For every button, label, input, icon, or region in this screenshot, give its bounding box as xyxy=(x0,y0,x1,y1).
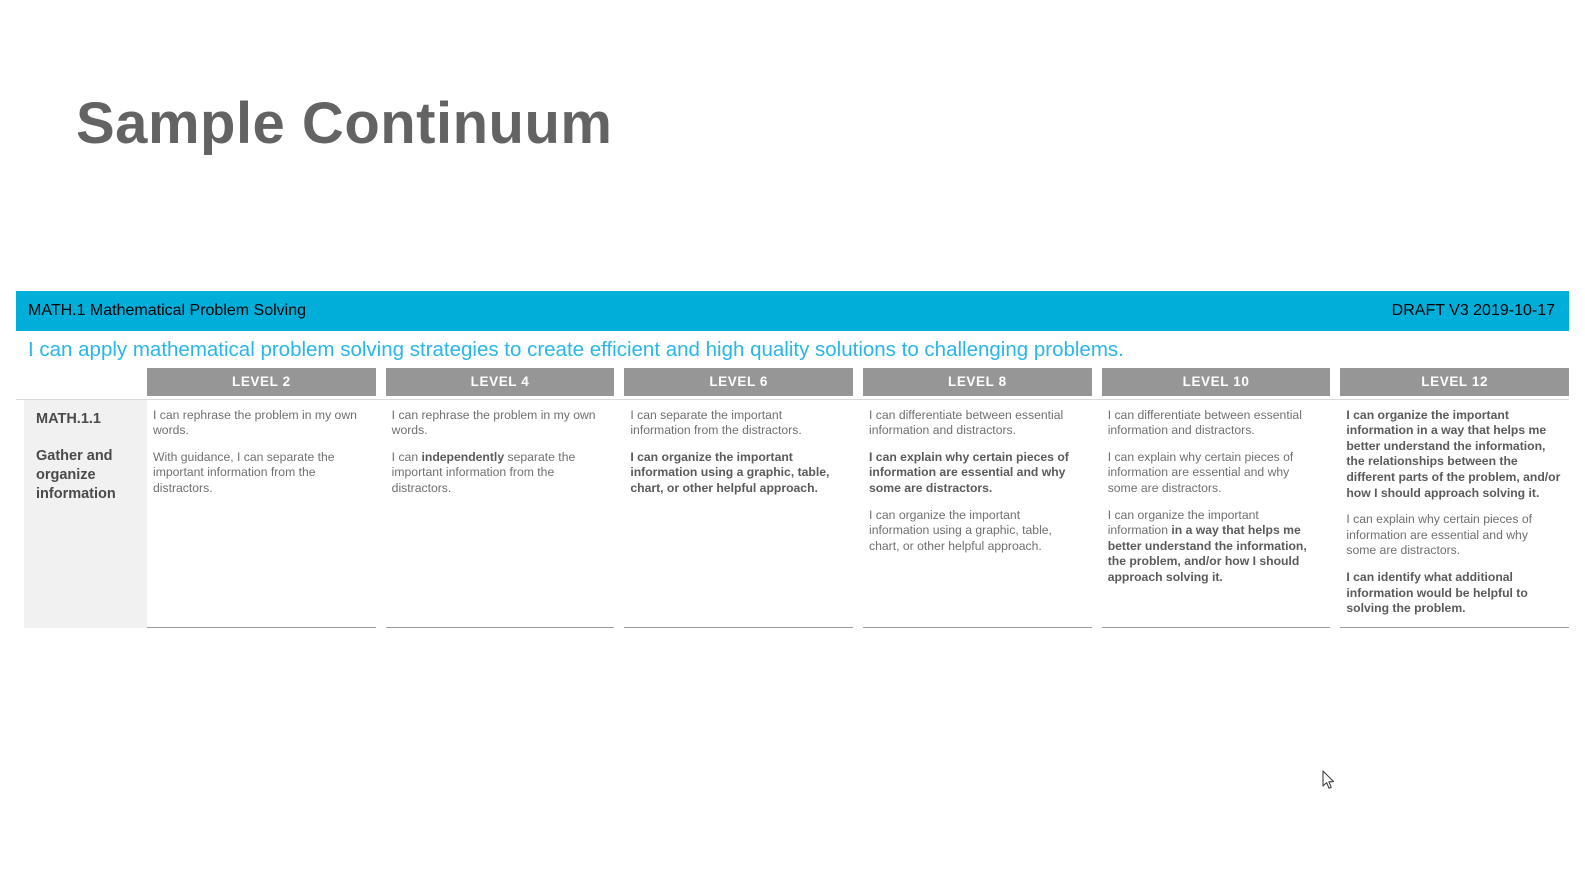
level-cell-paragraph: I can explain why certain pieces of info… xyxy=(869,450,1084,497)
level-cell-paragraph: I can rephrase the problem in my own wor… xyxy=(153,408,368,439)
continuum-table: MATH.1 Mathematical Problem Solving DRAF… xyxy=(16,291,1569,628)
level-cell-paragraph: I can organize the important information… xyxy=(1108,508,1323,586)
level-cell-paragraph: I can differentiate between essential in… xyxy=(869,408,1084,439)
mouse-pointer-icon xyxy=(1322,770,1336,790)
level-cell-4[interactable]: I can rephrase the problem in my own wor… xyxy=(386,400,615,628)
level-cell-paragraph: I can explain why certain pieces of info… xyxy=(1108,450,1323,497)
level-header-strip: LEVEL 2 LEVEL 4 LEVEL 6 LEVEL 8 LEVEL 10… xyxy=(147,368,1569,396)
row-label-cell: MATH.1.1 Gather and organize information xyxy=(24,400,147,628)
emphasis-text: independently xyxy=(421,450,504,464)
row-label-code: MATH.1.1 xyxy=(36,410,137,429)
level-cell-12[interactable]: I can organize the important information… xyxy=(1340,400,1569,628)
level-cell-2[interactable]: I can rephrase the problem in my own wor… xyxy=(147,400,376,628)
level-cell-paragraph: With guidance, I can separate the import… xyxy=(153,450,368,497)
level-cell-paragraph: I can organize the important information… xyxy=(630,450,845,497)
level-header-2[interactable]: LEVEL 2 xyxy=(147,368,376,396)
level-header-10[interactable]: LEVEL 10 xyxy=(1102,368,1331,396)
emphasis-text: in a way that helps me better understand… xyxy=(1108,523,1307,584)
level-cell-paragraph: I can organize the important information… xyxy=(1346,408,1561,502)
row-label-name: Gather and organize information xyxy=(36,447,137,504)
level-cell-paragraph: I can rephrase the problem in my own wor… xyxy=(392,408,607,439)
level-header-row: LEVEL 2 LEVEL 4 LEVEL 6 LEVEL 8 LEVEL 10… xyxy=(16,368,1569,396)
level-header-4[interactable]: LEVEL 4 xyxy=(386,368,615,396)
level-cell-paragraph: I can identify what additional informati… xyxy=(1346,570,1561,617)
level-cell-paragraph: I can independently separate the importa… xyxy=(392,450,607,497)
level-header-6[interactable]: LEVEL 6 xyxy=(624,368,853,396)
standard-code-title: MATH.1 Mathematical Problem Solving xyxy=(28,302,306,320)
row-label-spacer xyxy=(16,368,147,396)
level-header-8[interactable]: LEVEL 8 xyxy=(863,368,1092,396)
level-cell-10[interactable]: I can differentiate between essential in… xyxy=(1102,400,1331,628)
standard-description: I can apply mathematical problem solving… xyxy=(16,331,1569,368)
level-cell-paragraph: I can separate the important information… xyxy=(630,408,845,439)
level-header-12[interactable]: LEVEL 12 xyxy=(1340,368,1569,396)
draft-version-badge: DRAFT V3 2019-10-17 xyxy=(1392,302,1555,320)
table-row: MATH.1.1 Gather and organize information… xyxy=(16,400,1569,628)
level-cell-paragraph: I can organize the important information… xyxy=(869,508,1084,555)
level-cell-paragraph: I can explain why certain pieces of info… xyxy=(1346,512,1561,559)
level-cells-strip: I can rephrase the problem in my own wor… xyxy=(147,400,1569,628)
level-cell-6[interactable]: I can separate the important information… xyxy=(624,400,853,628)
standard-header-bar: MATH.1 Mathematical Problem Solving DRAF… xyxy=(16,291,1569,331)
page-title: Sample Continuum xyxy=(76,92,612,156)
level-cell-paragraph: I can differentiate between essential in… xyxy=(1108,408,1323,439)
level-cell-8[interactable]: I can differentiate between essential in… xyxy=(863,400,1092,628)
